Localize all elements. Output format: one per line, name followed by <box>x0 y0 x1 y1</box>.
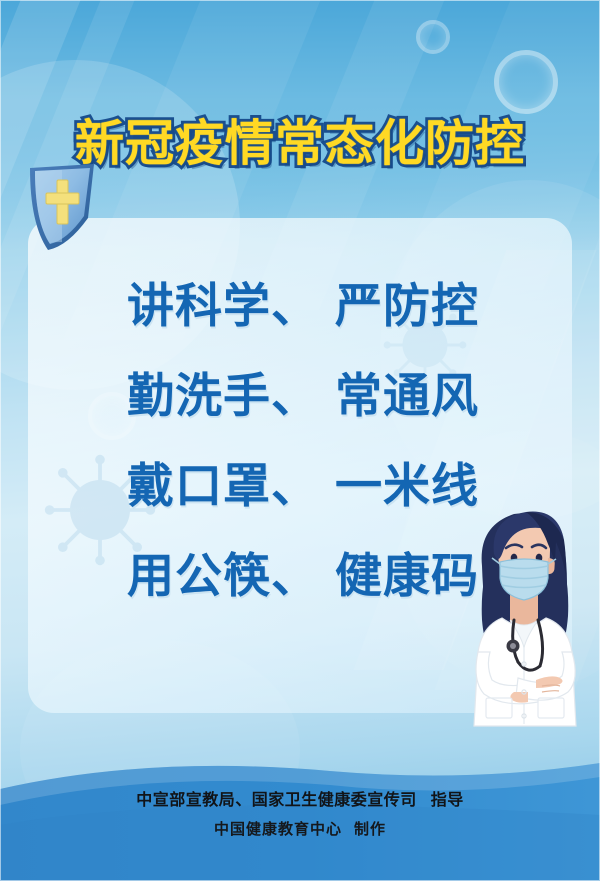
poster-root: 新冠疫情常态化防控 讲科学、严防控 勤洗手、常通风 <box>0 0 600 881</box>
footer: 中宣部宣教局、国家卫生健康委宣传司指导 中国健康教育中心制作 <box>0 786 600 839</box>
shield-with-cross-icon <box>24 162 100 254</box>
footer-line-guidance: 中宣部宣教局、国家卫生健康委宣传司指导 <box>0 786 600 810</box>
footer-line-producer: 中国健康教育中心制作 <box>0 818 600 839</box>
footer-producer-label: 制作 <box>354 820 386 838</box>
page-title: 新冠疫情常态化防控 <box>75 104 525 175</box>
slogan-left: 勤洗手、 <box>127 369 319 424</box>
bubble-decoration-icon <box>416 20 450 54</box>
doctor-illustration <box>452 496 598 748</box>
footer-guidance-orgs: 中宣部宣教局、国家卫生健康委宣传司 <box>136 790 417 809</box>
slogan-left: 讲科学、 <box>127 279 319 334</box>
footer-producer-org: 中国健康教育中心 <box>214 820 342 838</box>
footer-guidance-label: 指导 <box>431 790 464 809</box>
slogan-left: 用公筷、 <box>127 549 319 604</box>
slogan-right: 严防控 <box>335 279 479 334</box>
slogan-line: 讲科学、严防控 <box>0 262 600 352</box>
slogan-line: 勤洗手、常通风 <box>0 352 600 442</box>
slogan-left: 戴口罩、 <box>127 459 319 514</box>
slogan-right: 常通风 <box>335 369 479 424</box>
